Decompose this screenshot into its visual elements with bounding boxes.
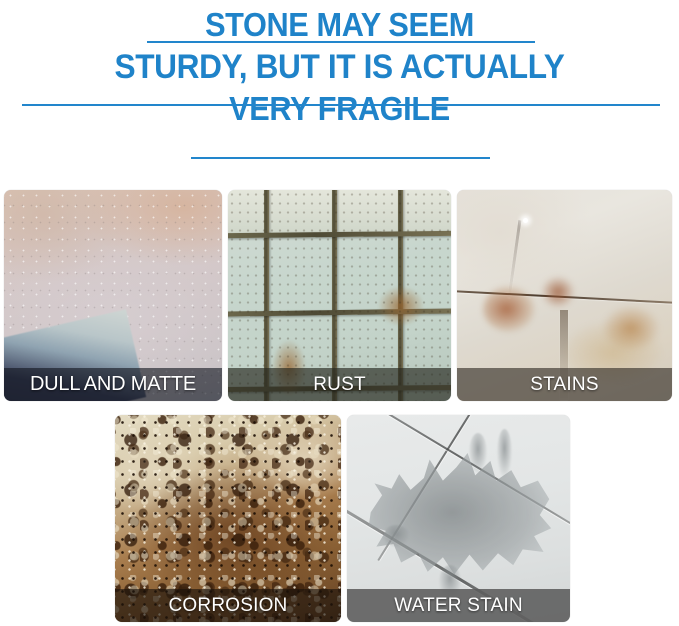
tile-caption-water-stain: WATER STAIN [347, 589, 570, 622]
water-puddle-shape [365, 449, 555, 581]
specular-highlight [523, 218, 528, 223]
water-drip [497, 429, 512, 477]
headline-line-2: STURDY, BUT IT IS ACTUALLY [24, 46, 655, 88]
headline-underline-3 [191, 157, 490, 159]
headline-line-1: STONE MAY SEEM [24, 4, 655, 46]
tile-caption-rust: RUST [228, 368, 451, 401]
tile-stains: STAINS [457, 190, 672, 401]
tile-corrosion: CORROSION [115, 415, 341, 622]
tile-caption-stains: STAINS [457, 368, 672, 401]
headline-block: STONE MAY SEEM STURDY, BUT IT IS ACTUALL… [0, 4, 679, 130]
tile-water-stain: WATER STAIN [347, 415, 570, 622]
tile-caption-corrosion: CORROSION [115, 589, 341, 622]
tile-dull-and-matte: DULL AND MATTE [4, 190, 222, 401]
headline-underline-2 [22, 104, 660, 106]
stain-spot [483, 286, 535, 332]
water-drip [383, 525, 409, 547]
stain-spot [603, 306, 659, 350]
tile-caption-dull-and-matte: DULL AND MATTE [4, 368, 222, 401]
headline-underline-1 [147, 41, 535, 43]
tile-rust: RUST [228, 190, 451, 401]
headline-line-3: VERY FRAGILE [24, 88, 655, 130]
stain-spot [541, 276, 575, 308]
infographic-page: STONE MAY SEEM STURDY, BUT IT IS ACTUALL… [0, 0, 679, 626]
